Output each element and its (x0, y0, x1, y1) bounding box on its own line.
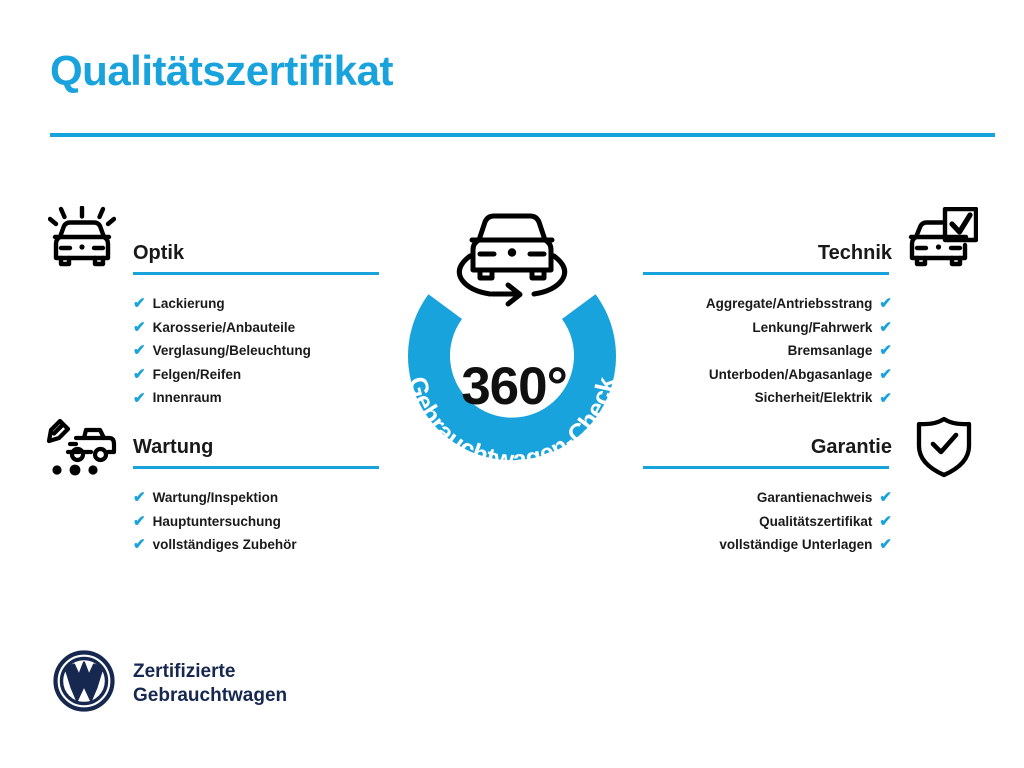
section-heading-technik: Technik (643, 243, 892, 263)
section-rule-garantie (643, 466, 889, 469)
check-icon: ✔ (879, 296, 892, 311)
footer-line-1: Zertifizierte (133, 660, 287, 684)
check-icon: ✔ (133, 490, 146, 505)
car-rotate-icon (459, 216, 564, 304)
list-item: Bremsanlage✔ (643, 339, 892, 363)
checklist-wartung: ✔Wartung/Inspektion ✔Hauptuntersuchung ✔… (133, 486, 379, 557)
check-icon: ✔ (133, 367, 146, 382)
list-item-label: Garantienachweis (757, 486, 873, 510)
section-heading-wartung: Wartung (133, 437, 379, 457)
check-icon: ✔ (879, 514, 892, 529)
360-check-badge: Gebrauchtwagen-Check 360° (372, 196, 652, 486)
list-item: ✔Lackierung (133, 292, 379, 316)
list-item: ✔Innenraum (133, 386, 379, 410)
list-item: ✔Hauptuntersuchung (133, 510, 379, 534)
check-icon: ✔ (133, 391, 146, 406)
list-item-label: Wartung/Inspektion (153, 486, 279, 510)
car-checkbox-icon (908, 207, 978, 274)
section-rule-technik (643, 272, 889, 275)
check-icon: ✔ (133, 514, 146, 529)
check-icon: ✔ (133, 343, 146, 358)
shield-check-icon (915, 416, 973, 483)
list-item: ✔vollständiges Zubehör (133, 533, 379, 557)
list-item: vollständige Unterlagen✔ (643, 533, 892, 557)
list-item-label: Sicherheit/Elektrik (755, 386, 873, 410)
checklist-garantie: Garantienachweis✔ Qualitätszertifikat✔ v… (643, 486, 892, 557)
list-item: Qualitätszertifikat✔ (643, 510, 892, 534)
check-icon: ✔ (879, 367, 892, 382)
list-item-label: Felgen/Reifen (153, 363, 242, 387)
page-title: Qualitätszertifikat (50, 48, 393, 94)
section-wartung: Wartung ✔Wartung/Inspektion ✔Hauptunters… (133, 437, 379, 557)
check-icon: ✔ (879, 343, 892, 358)
list-item-label: Hauptuntersuchung (153, 510, 281, 534)
list-item: ✔Karosserie/Anbauteile (133, 316, 379, 340)
list-item: Unterboden/Abgasanlage✔ (643, 363, 892, 387)
list-item-label: Innenraum (153, 386, 222, 410)
vw-logo-icon (53, 650, 115, 717)
section-garantie: Garantie Garantienachweis✔ Qualitätszert… (643, 437, 892, 557)
section-heading-garantie: Garantie (643, 437, 892, 457)
list-item-label: Lenkung/Fahrwerk (752, 316, 872, 340)
check-icon: ✔ (879, 391, 892, 406)
list-item-label: Qualitätszertifikat (759, 510, 872, 534)
list-item: Garantienachweis✔ (643, 486, 892, 510)
badge-ring: Gebrauchtwagen-Check (372, 196, 652, 486)
list-item-label: vollständige Unterlagen (719, 533, 872, 557)
list-item: Sicherheit/Elektrik✔ (643, 386, 892, 410)
list-item: ✔Wartung/Inspektion (133, 486, 379, 510)
check-icon: ✔ (133, 537, 146, 552)
list-item-label: Verglasung/Beleuchtung (153, 339, 311, 363)
checklist-technik: Aggregate/Antriebsstrang✔ Lenkung/Fahrwe… (643, 292, 892, 410)
car-shine-icon (48, 206, 116, 273)
footer-line-2: Gebrauchtwagen (133, 684, 287, 708)
check-icon: ✔ (879, 537, 892, 552)
check-icon: ✔ (133, 320, 146, 335)
car-service-pen-icon (46, 418, 118, 483)
list-item-label: Lackierung (153, 292, 225, 316)
checklist-optik: ✔Lackierung ✔Karosserie/Anbauteile ✔Verg… (133, 292, 379, 410)
list-item: Aggregate/Antriebsstrang✔ (643, 292, 892, 316)
certificate-page: Qualitätszertifikat (0, 0, 1024, 768)
section-rule-optik (133, 272, 379, 275)
check-icon: ✔ (133, 296, 146, 311)
list-item: ✔Felgen/Reifen (133, 363, 379, 387)
list-item-label: vollständiges Zubehör (153, 533, 297, 557)
list-item: ✔Verglasung/Beleuchtung (133, 339, 379, 363)
section-heading-optik: Optik (133, 243, 379, 263)
section-technik: Technik Aggregate/Antriebsstrang✔ Lenkun… (643, 243, 892, 410)
section-rule-wartung (133, 466, 379, 469)
list-item-label: Bremsanlage (788, 339, 873, 363)
list-item-label: Karosserie/Anbauteile (153, 316, 296, 340)
footer-wordmark: Zertifizierte Gebrauchtwagen (133, 660, 287, 708)
section-optik: Optik ✔Lackierung ✔Karosserie/Anbauteile… (133, 243, 379, 410)
list-item-label: Unterboden/Abgasanlage (709, 363, 873, 387)
check-icon: ✔ (879, 320, 892, 335)
check-icon: ✔ (879, 490, 892, 505)
header-divider (50, 133, 995, 137)
list-item: Lenkung/Fahrwerk✔ (643, 316, 892, 340)
list-item-label: Aggregate/Antriebsstrang (706, 292, 873, 316)
